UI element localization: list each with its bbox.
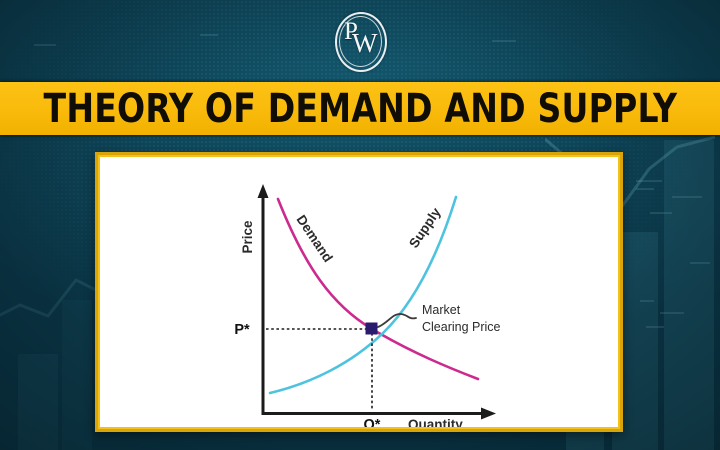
x-axis-label: Quantity — [408, 417, 463, 429]
supply-demand-chart: Price Quantity Demand Supply P* Q* Marke… — [100, 157, 620, 429]
brand-logo: P W — [0, 8, 720, 74]
demand-curve-label: Demand — [294, 212, 336, 265]
equilibrium-marker — [366, 323, 378, 335]
quantity-tick-label: Q* — [364, 417, 381, 429]
title-banner: THEORY OF DEMAND AND SUPPLY — [0, 82, 720, 135]
logo-letter-w: W — [352, 30, 377, 57]
page-title: THEORY OF DEMAND AND SUPPLY — [43, 89, 677, 129]
chart-panel: Price Quantity Demand Supply P* Q* Marke… — [98, 155, 620, 429]
price-tick-label: P* — [234, 322, 250, 338]
equilibrium-callout-line2: Clearing Price — [422, 320, 501, 334]
y-axis-label: Price — [240, 220, 255, 254]
slide-canvas: P W THEORY OF DEMAND AND SUPPLY — [0, 0, 720, 450]
chart-panel-frame: Price Quantity Demand Supply P* Q* Marke… — [95, 152, 623, 432]
equilibrium-callout-line1: Market — [422, 303, 461, 317]
chart-axes — [258, 184, 497, 420]
